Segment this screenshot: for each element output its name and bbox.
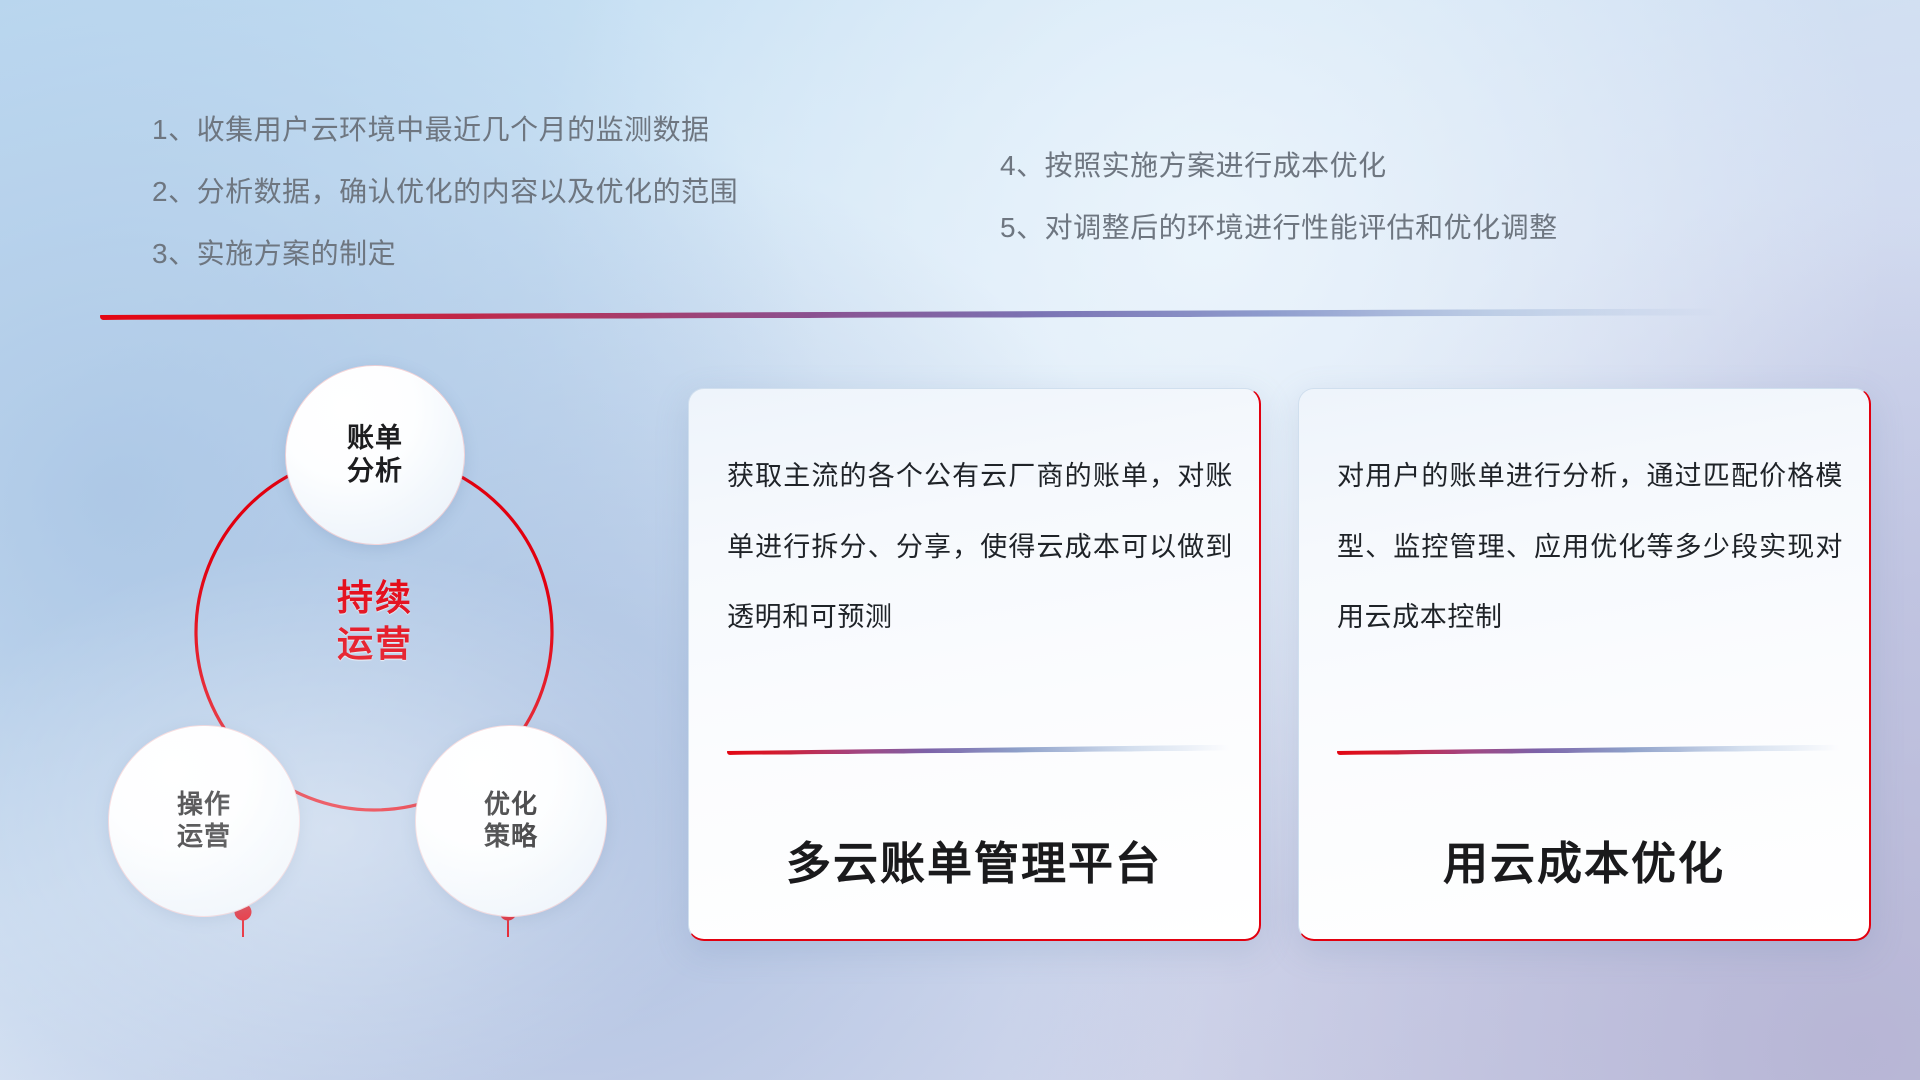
step-item-3: 3、实施方案的制定 (152, 240, 738, 268)
bubble-optimization-strategy[interactable]: 优化 策略 (415, 725, 607, 917)
step-item-1: 1、收集用户云环境中最近几个月的监测数据 (152, 116, 738, 144)
center-label-line2: 运营 (275, 621, 475, 667)
bubble-bill-analysis[interactable]: 账单 分析 (285, 365, 465, 545)
center-label-line1: 持续 (275, 575, 475, 621)
step-item-2: 2、分析数据，确认优化的内容以及优化的范围 (152, 178, 738, 206)
bubble-operation-line2: 运营 (177, 821, 231, 853)
step-item-4: 4、按照实施方案进行成本优化 (1000, 152, 1558, 180)
card-2-title: 用云成本优化 (1299, 827, 1869, 892)
bubble-optimization-strategy-line2: 策略 (484, 821, 538, 853)
card-1-title: 多云账单管理平台 (689, 827, 1259, 892)
continuous-operation-diagram: 账单 分析 操作 运营 优化 策略 持续 运营 (80, 345, 680, 945)
steps-right-column: 4、按照实施方案进行成本优化 5、对调整后的环境进行性能评估和优化调整 (1000, 152, 1558, 242)
bubble-operation-line1: 操作 (177, 789, 231, 821)
steps-left-column: 1、收集用户云环境中最近几个月的监测数据 2、分析数据，确认优化的内容以及优化的… (152, 116, 738, 268)
step-item-5: 5、对调整后的环境进行性能评估和优化调整 (1000, 214, 1558, 242)
bubble-bill-analysis-line2: 分析 (347, 455, 403, 488)
card-2-body-text: 对用户的账单进行分析，通过匹配价格模型、监控管理、应用优化等多少段实现对用云成本… (1337, 441, 1843, 653)
card-cloud-cost-optimization[interactable]: 对用户的账单进行分析，通过匹配价格模型、监控管理、应用优化等多少段实现对用云成本… (1298, 388, 1871, 941)
bubble-operation[interactable]: 操作 运营 (108, 725, 300, 917)
card-multi-cloud-bill-platform[interactable]: 获取主流的各个公有云厂商的账单，对账单进行拆分、分享，使得云成本可以做到透明和可… (688, 388, 1261, 941)
card-1-divider (727, 745, 1229, 755)
card-1-body-text: 获取主流的各个公有云厂商的账单，对账单进行拆分、分享，使得云成本可以做到透明和可… (727, 441, 1233, 653)
header-divider-line (100, 308, 1720, 320)
bubble-optimization-strategy-line1: 优化 (484, 789, 538, 821)
card-2-divider (1337, 745, 1839, 755)
bubble-bill-analysis-line1: 账单 (347, 422, 403, 455)
diagram-center-label: 持续 运营 (275, 575, 475, 667)
slide-canvas: 1、收集用户云环境中最近几个月的监测数据 2、分析数据，确认优化的内容以及优化的… (0, 0, 1920, 1080)
